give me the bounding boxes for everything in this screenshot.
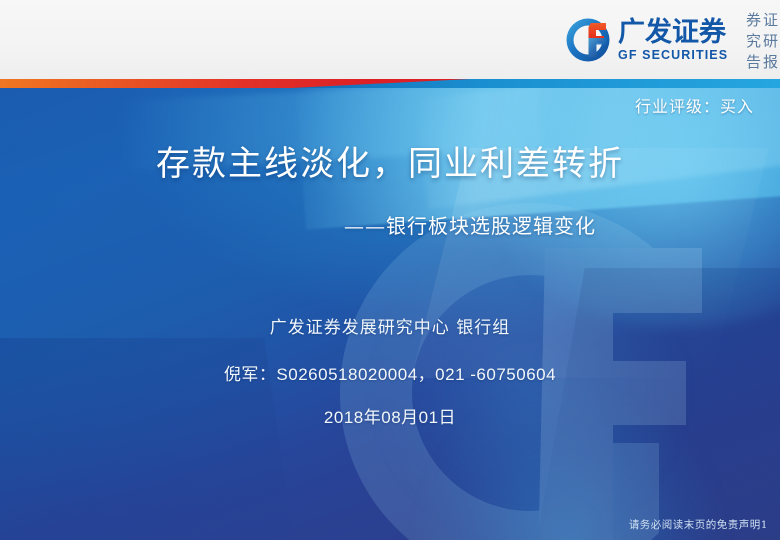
logo-english-name: GF SECURITIES xyxy=(618,48,728,62)
vertical-char-2: 研 xyxy=(763,31,778,51)
vertical-char-5: 究 xyxy=(746,31,761,51)
industry-rating: 行业评级：买入 xyxy=(635,93,754,117)
disclaimer-footer: 请务必阅读末页的免责声明1 xyxy=(629,517,768,532)
analyst-info: 倪军：S0260518020004，021 -60750604 xyxy=(0,360,780,385)
vertical-char-4: 券 xyxy=(746,10,761,30)
accent-stripe xyxy=(0,79,780,88)
vertical-char-1: 证 xyxy=(763,10,778,30)
publication-date: 2018年08月01日 xyxy=(0,403,780,428)
logo-chinese-name: 广发证券 xyxy=(618,18,728,48)
company-logo: 广发证券 GF SECURITIES xyxy=(565,14,728,66)
slide-header: 广发证券 GF SECURITIES 证 研 报 券 究 告 xyxy=(0,0,780,80)
logo-wordmark: 广发证券 GF SECURITIES xyxy=(618,18,728,62)
page-title: 存款主线淡化，同业利差转折 xyxy=(0,136,780,185)
report-type-vertical-label: 证 研 报 券 究 告 xyxy=(722,10,778,72)
vertical-char-6: 告 xyxy=(746,52,761,72)
vertical-char-3: 报 xyxy=(763,52,778,72)
page-subtitle: ——银行板块选股逻辑变化 xyxy=(0,210,780,239)
vertical-label-col-right: 证 研 报 xyxy=(763,10,778,72)
gf-logo-icon xyxy=(565,17,611,63)
vertical-label-col-left: 券 究 告 xyxy=(746,10,761,72)
presentation-slide: 广发证券 GF SECURITIES 证 研 报 券 究 告 xyxy=(0,0,780,540)
organization-label: 广发证券发展研究中心 银行组 xyxy=(0,313,780,338)
